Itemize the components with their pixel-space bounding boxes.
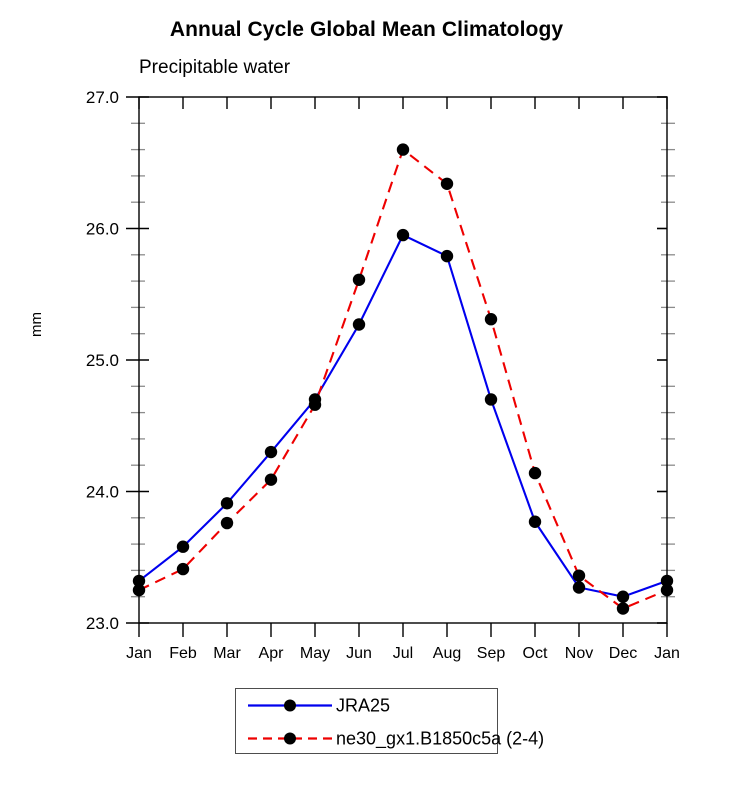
legend: JRA25 ne30_gx1.B1850c5a (2-4) [235,688,498,754]
legend-entry-jra25: JRA25 [236,689,497,722]
x-tick-label: Sep [477,645,506,662]
x-tick-label: May [300,645,330,662]
chart-subtitle: Precipitable water [139,57,290,79]
x-tick-label: Jan [654,645,680,662]
data-point [485,393,497,405]
data-point [573,569,585,581]
data-point [353,274,365,286]
data-point [529,516,541,528]
x-tick-label: Oct [523,645,548,662]
legend-swatch-solid-line [246,689,334,722]
data-point [573,581,585,593]
data-point [309,399,321,411]
data-point [265,446,277,458]
series-line-1 [139,150,667,609]
data-point [221,497,233,509]
y-tick-label: 26.0 [86,220,119,239]
series-markers [133,143,673,614]
x-tick-label: Apr [259,645,285,662]
x-axis-top-ticks [139,97,667,109]
x-tick-label: Dec [609,645,637,662]
data-point [177,563,189,575]
y-axis-major-ticks [126,97,667,623]
chart-figure: Annual Cycle Global Mean Climatology Pre… [0,0,733,786]
y-axis-tick-labels: 23.024.025.026.027.0 [86,88,119,633]
data-point [485,313,497,325]
y-axis-minor-ticks [131,123,675,596]
series-lines [139,150,667,609]
x-tick-label: Jan [126,645,152,662]
plot-frame [139,97,667,623]
legend-label-1: ne30_gx1.B1850c5a (2-4) [336,728,544,749]
y-tick-label: 23.0 [86,614,119,633]
legend-swatch-dashed-line [246,722,334,755]
x-axis-tick-labels: JanFebMarAprMayJunJulAugSepOctNovDecJan [126,645,680,662]
series-line-0 [139,235,667,597]
data-point [617,602,629,614]
data-point [529,467,541,479]
y-tick-label: 27.0 [86,88,119,107]
data-point [133,584,145,596]
data-point [177,541,189,553]
data-point [265,473,277,485]
x-tick-label: Feb [169,645,197,662]
chart-title: Annual Cycle Global Mean Climatology [0,18,733,42]
x-tick-label: Mar [213,645,241,662]
legend-entry-ne30: ne30_gx1.B1850c5a (2-4) [236,722,497,755]
data-point [397,143,409,155]
x-tick-label: Aug [433,645,461,662]
x-tick-label: Jul [393,645,413,662]
data-point [661,584,673,596]
plot-area: 23.024.025.026.027.0 JanFebMarAprMayJunJ… [0,0,733,786]
x-tick-label: Jun [346,645,372,662]
legend-label-0: JRA25 [336,695,390,716]
y-axis-label: mm [28,312,45,337]
data-point [221,517,233,529]
data-point [353,318,365,330]
x-axis-ticks [139,623,667,637]
data-point [617,591,629,603]
data-point [397,229,409,241]
data-point [441,178,453,190]
x-tick-label: Nov [565,645,593,662]
y-tick-label: 24.0 [86,483,119,502]
y-tick-label: 25.0 [86,351,119,370]
data-point [441,250,453,262]
